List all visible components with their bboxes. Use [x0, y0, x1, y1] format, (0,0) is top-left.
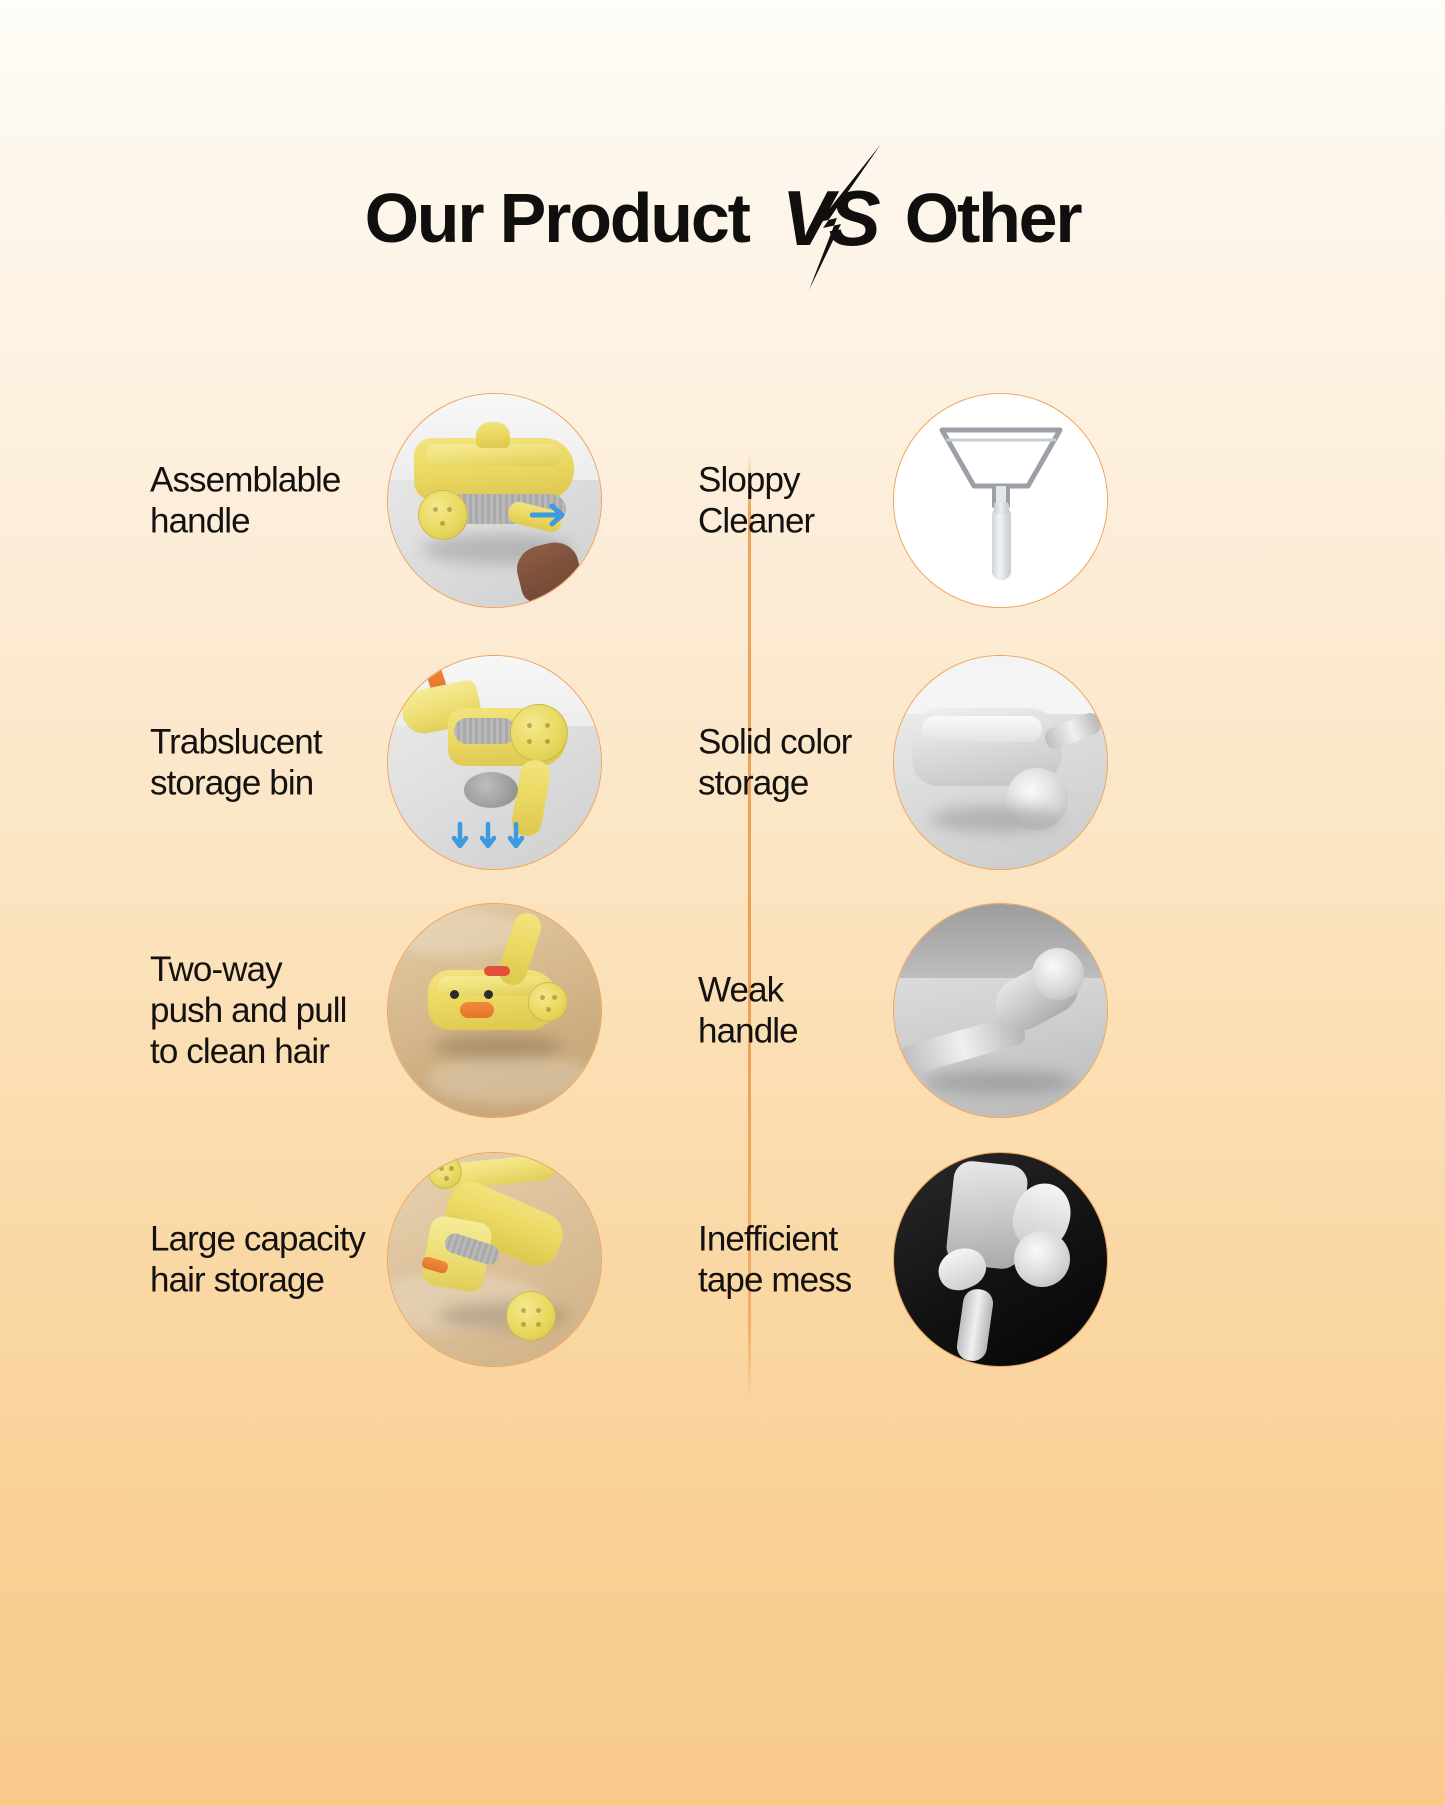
label-line: storage bin — [150, 763, 410, 804]
title-other: Other — [905, 179, 1081, 257]
row-3-other-image — [893, 903, 1108, 1118]
row-4-ours-label: Large capacity hair storage — [150, 1218, 410, 1301]
label-line: storage — [698, 763, 898, 804]
vs-label: VS — [769, 179, 889, 257]
label-line: hair storage — [150, 1260, 410, 1301]
label-line: push and pull — [150, 990, 410, 1031]
row-3-other: Weak handle — [690, 903, 1390, 1118]
label-line: Large capacity — [150, 1218, 410, 1259]
label-line: tape mess — [698, 1260, 898, 1301]
row-4-ours-image — [387, 1152, 602, 1367]
label-line: handle — [698, 1011, 898, 1052]
row-3-ours-image — [387, 903, 602, 1118]
row-3-ours: Two-way push and pull to clean hair — [140, 903, 748, 1118]
row-2-ours: Trabslucent storage bin — [140, 655, 748, 870]
row-4-other-image — [893, 1152, 1108, 1367]
label-line: to clean hair — [150, 1031, 410, 1072]
page-title: Our ProductVSOther — [0, 158, 1445, 278]
comparison-row-4: Large capacity hair storage — [0, 1152, 1445, 1367]
comparison-row-1: Assemblable handle — [0, 393, 1445, 608]
label-line: Trabslucent — [150, 721, 410, 762]
row-1-other-label: Sloppy Cleaner — [698, 459, 898, 542]
title-our-product: Our Product — [365, 179, 749, 257]
label-line: Inefficient — [698, 1218, 898, 1259]
comparison-row-3: Two-way push and pull to clean hair — [0, 903, 1445, 1118]
label-line: Solid color — [698, 721, 898, 762]
label-line: Weak — [698, 969, 898, 1010]
comparison-infographic: Our ProductVSOther Assemblable handle — [0, 0, 1445, 1806]
direction-arrow-icon — [530, 500, 576, 535]
row-2-other-label: Solid color storage — [698, 721, 898, 804]
row-3-other-label: Weak handle — [698, 969, 898, 1052]
label-line: Cleaner — [698, 501, 898, 542]
row-1-ours-label: Assemblable handle — [150, 459, 410, 542]
row-2-other: Solid color storage — [690, 655, 1390, 870]
row-3-ours-label: Two-way push and pull to clean hair — [150, 949, 410, 1073]
row-2-other-image — [893, 655, 1108, 870]
label-line: Assemblable — [150, 459, 410, 500]
row-2-ours-image — [387, 655, 602, 870]
row-1-ours: Assemblable handle — [140, 393, 748, 608]
label-line: Two-way — [150, 949, 410, 990]
row-4-other-label: Inefficient tape mess — [698, 1218, 898, 1301]
row-1-other: Sloppy Cleaner — [690, 393, 1390, 608]
label-line: Sloppy — [698, 459, 898, 500]
label-line: handle — [150, 501, 410, 542]
row-1-other-image — [893, 393, 1108, 608]
down-arrows-icon — [450, 820, 526, 859]
row-4-ours: Large capacity hair storage — [140, 1152, 748, 1367]
vs-badge: VS — [769, 158, 889, 278]
row-1-ours-image — [387, 393, 602, 608]
comparison-row-2: Trabslucent storage bin — [0, 655, 1445, 870]
row-4-other: Inefficient tape mess — [690, 1152, 1390, 1367]
row-2-ours-label: Trabslucent storage bin — [150, 721, 410, 804]
